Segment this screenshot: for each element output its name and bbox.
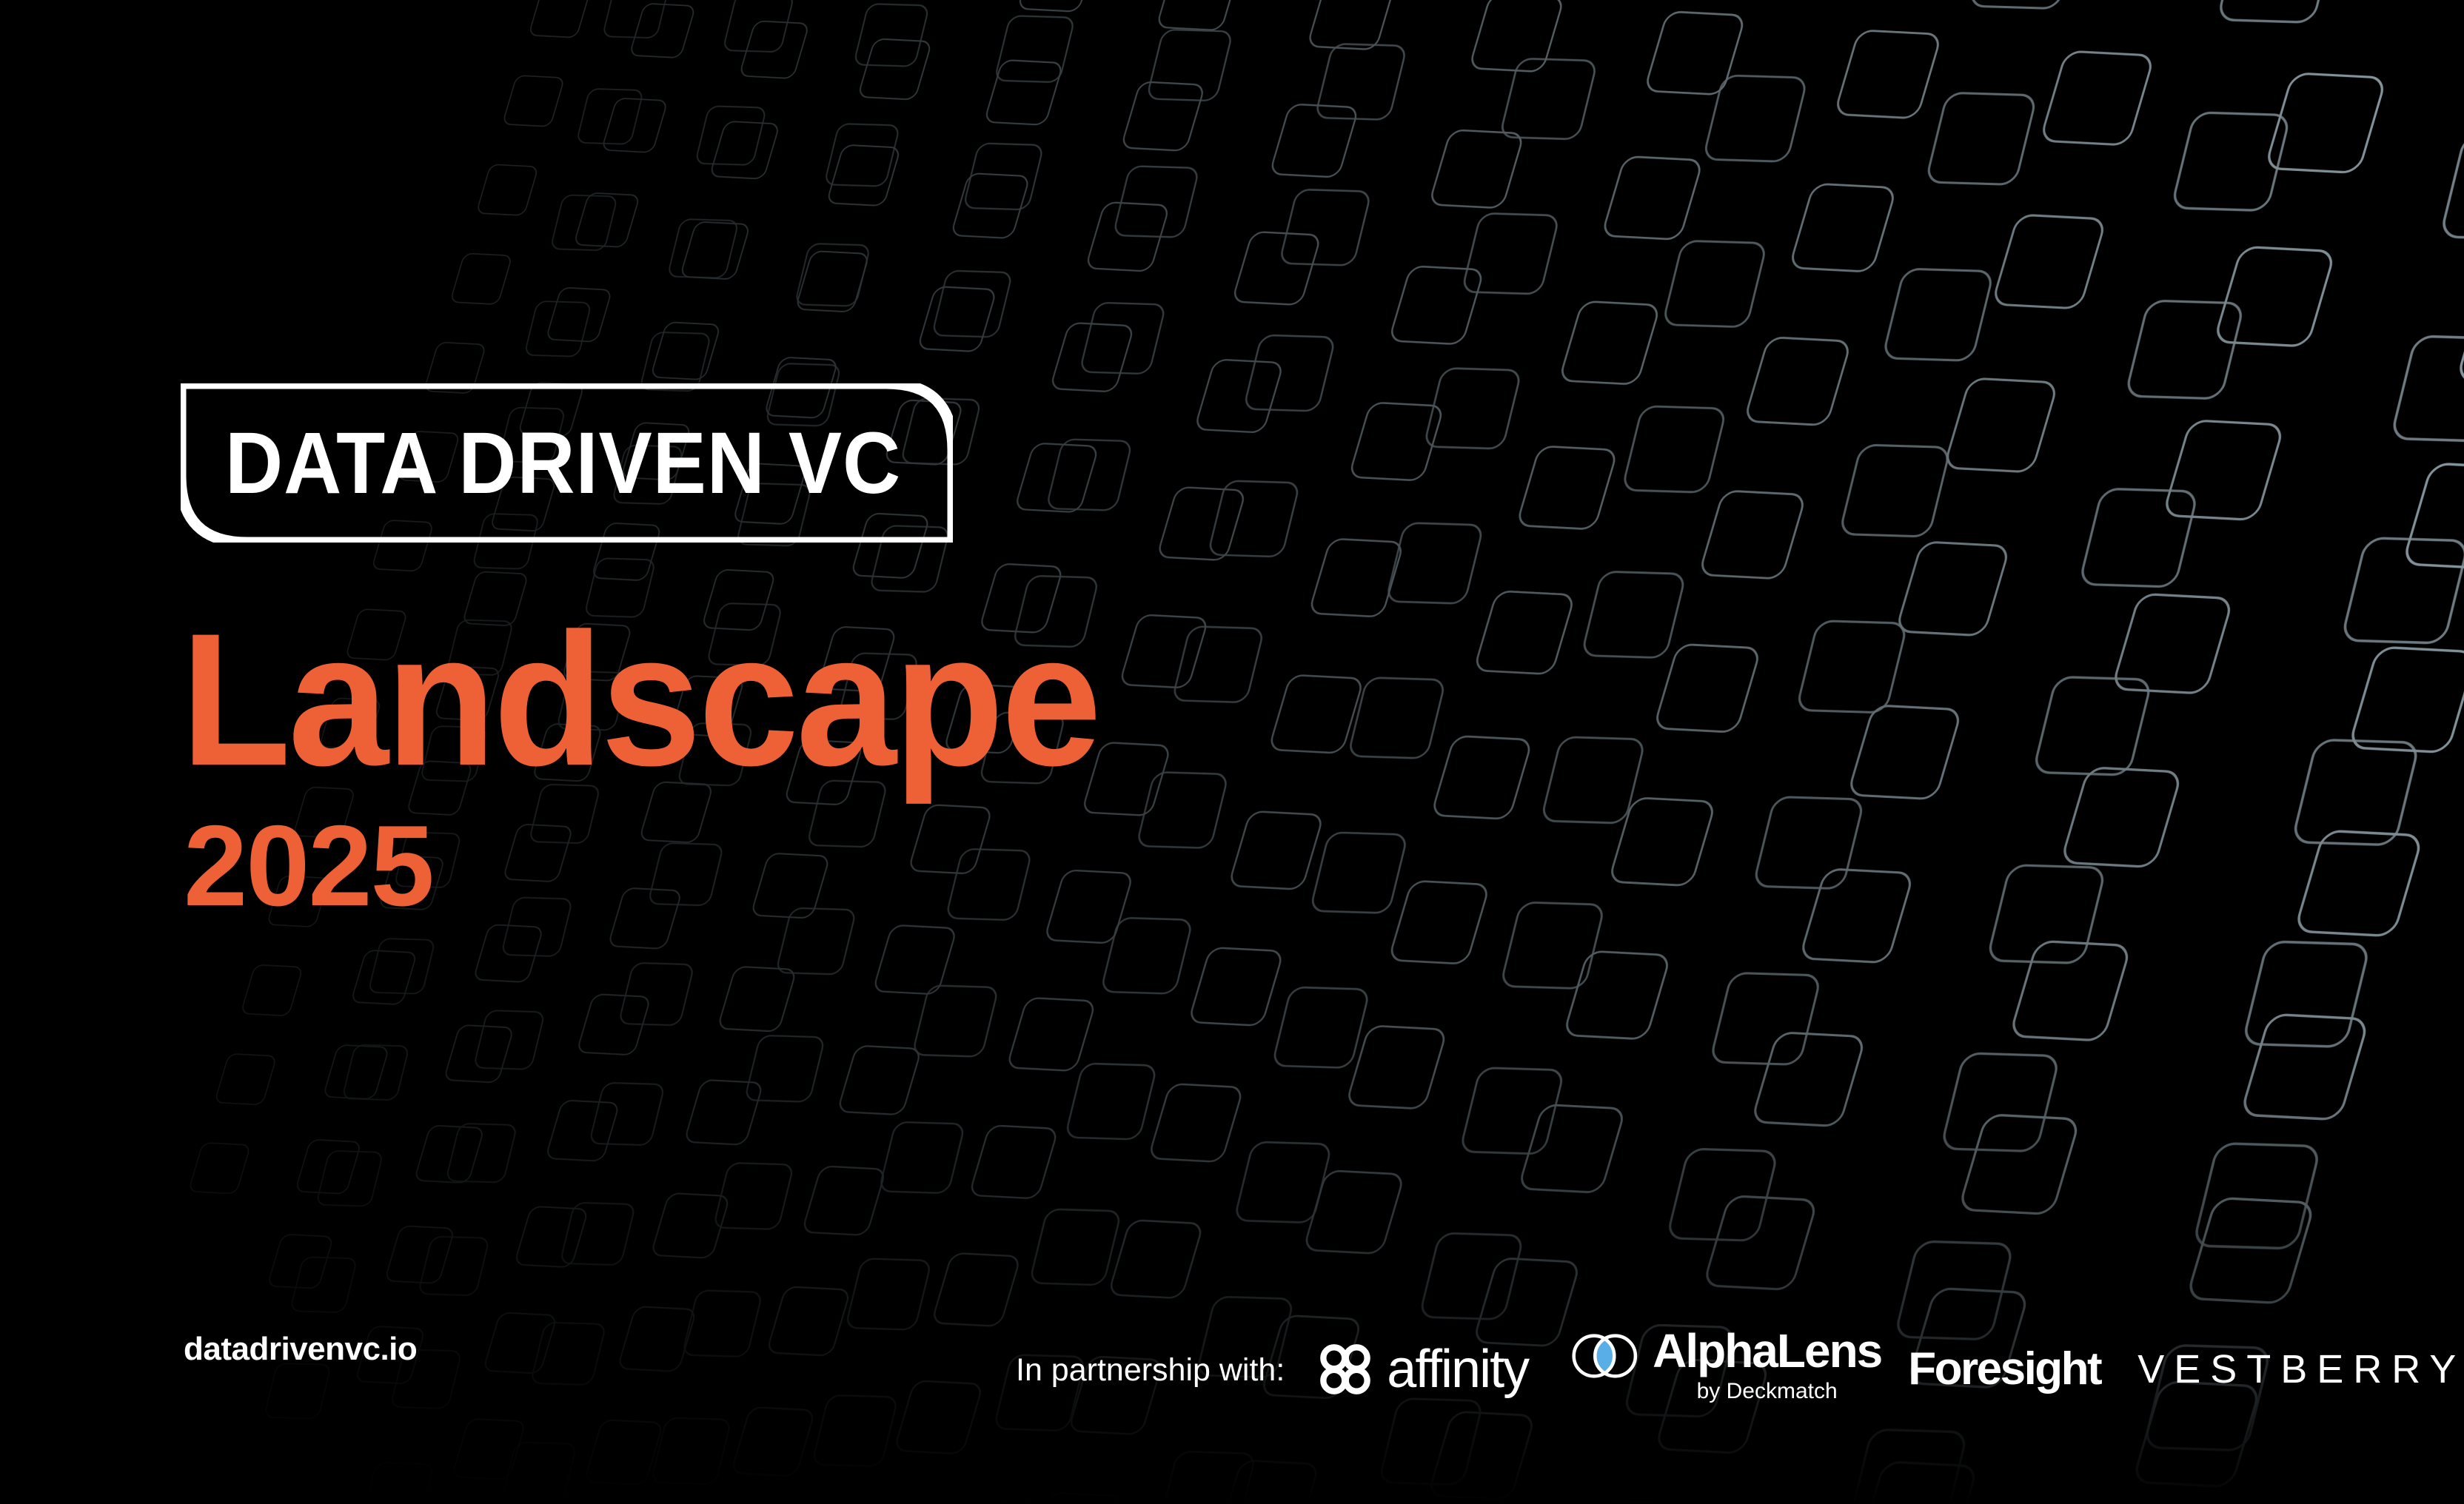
page-title: Landscape — [181, 605, 1099, 794]
site-url-link[interactable]: datadrivenvc.io — [184, 1331, 417, 1368]
partner-vestberry-name: VESTBERRY — [2137, 1349, 2464, 1389]
partner-affinity[interactable]: affinity — [1317, 1312, 1528, 1397]
partner-affinity-name: affinity — [1387, 1343, 1528, 1396]
partnership-label: In partnership with: — [1016, 1321, 1285, 1389]
partner-alphalens-sub: by Deckmatch — [1653, 1380, 1881, 1403]
partner-logo-row: In partnership with: affinity — [1016, 1303, 2464, 1406]
alphalens-venn-icon — [1565, 1332, 1642, 1380]
affinity-quatrefoil-icon — [1317, 1341, 1373, 1397]
page-subtitle-year: 2025 — [184, 808, 433, 923]
partner-foresight-name: Foresight — [1908, 1346, 2100, 1392]
partner-alphalens[interactable]: AlphaLens by Deckmatch — [1565, 1306, 1881, 1402]
logo-wordmark-text: DATA DRIVEN VC — [225, 420, 901, 507]
partner-alphalens-name: AlphaLens — [1653, 1327, 1881, 1375]
footer: datadrivenvc.io In partnership with: aff… — [0, 1303, 2464, 1421]
partner-foresight[interactable]: Foresight — [1908, 1317, 2100, 1392]
slide-canvas: DATA DRIVEN VC Landscape 2025 datadriven… — [0, 0, 2464, 1504]
partner-vestberry[interactable]: VESTBERRY — [2137, 1320, 2464, 1389]
brand-logo: DATA DRIVEN VC — [181, 383, 953, 543]
